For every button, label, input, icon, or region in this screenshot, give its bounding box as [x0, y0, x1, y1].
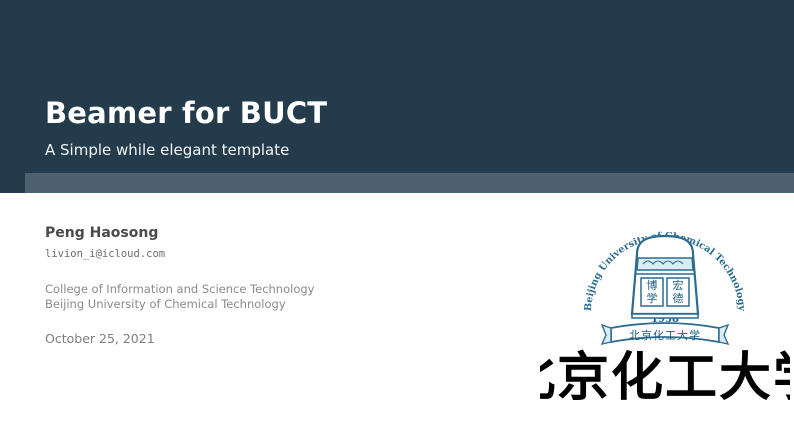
- seal-char-boxue-top: 博: [647, 279, 658, 292]
- university-seal-icon: Beijing University of Chemical Technolog…: [575, 218, 755, 353]
- university-logo: Beijing University of Chemical Technolog…: [540, 218, 790, 433]
- seal-ribbon-text: 北京化工大学: [629, 328, 701, 342]
- seal-char-hongde-bottom: 德: [673, 291, 684, 305]
- title-band: Beamer for BUCT A Simple while elegant t…: [0, 0, 794, 173]
- affiliation-line-2: Beijing University of Chemical Technolog…: [45, 297, 314, 312]
- author-block: Peng Haosong livion_i@icloud.com College…: [45, 226, 314, 346]
- author-name: Peng Haosong: [45, 226, 314, 240]
- slide-body: Peng Haosong livion_i@icloud.com College…: [0, 193, 794, 447]
- university-wordmark: 北京化工大学: [540, 341, 790, 411]
- page-title: Beamer for BUCT: [45, 99, 327, 128]
- author-email: livion_i@icloud.com: [45, 249, 314, 260]
- seal-bell-icon: 博 学 宏 德 1958: [632, 236, 698, 325]
- accent-bar: [25, 173, 794, 193]
- seal-char-hongde-top: 宏: [673, 278, 684, 292]
- accent-bar-left-stub: [0, 173, 25, 193]
- wordmark-text: 北京化工大学: [540, 347, 790, 408]
- affiliation-block: College of Information and Science Techn…: [45, 282, 314, 313]
- affiliation-line-1: College of Information and Science Techn…: [45, 282, 314, 297]
- seal-char-boxue-bottom: 学: [647, 291, 658, 305]
- page-subtitle: A Simple while elegant template: [45, 143, 289, 158]
- presentation-date: October 25, 2021: [45, 333, 314, 346]
